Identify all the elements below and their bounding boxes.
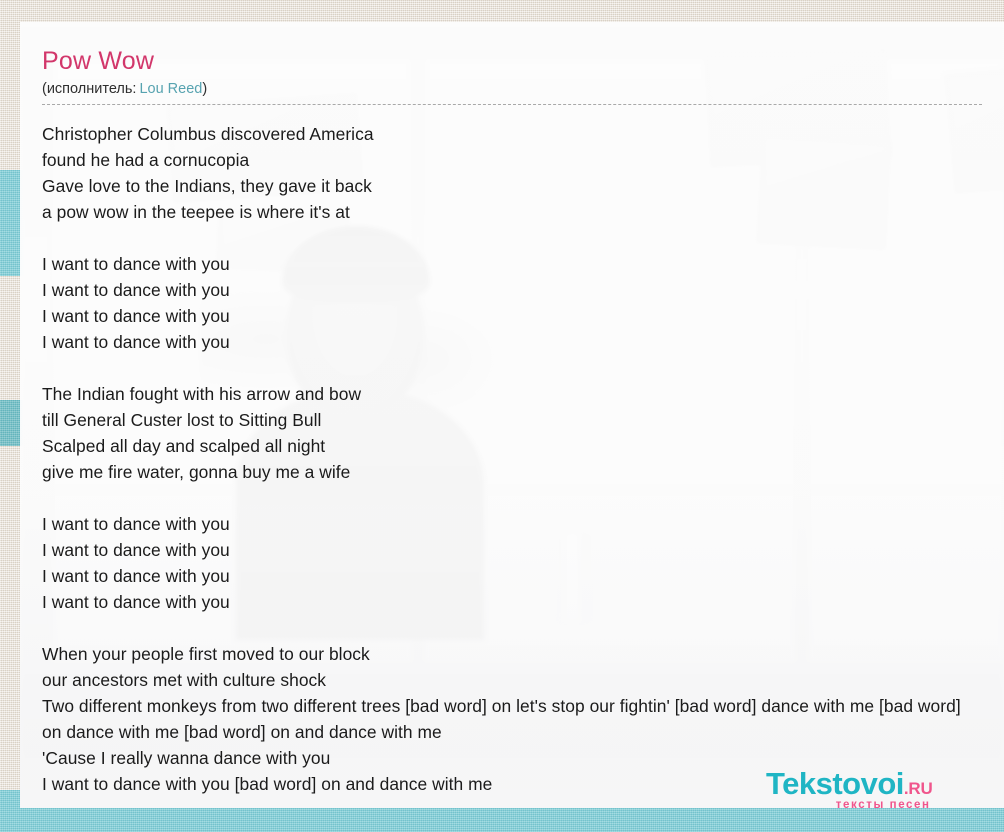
lyric-line: I want to dance with you	[42, 589, 982, 615]
lyric-line: Gave love to the Indians, they gave it b…	[42, 173, 982, 199]
artist-label: (исполнитель:	[42, 81, 136, 97]
site-logo-subtitle: тексты песен	[766, 800, 933, 812]
lyric-blank-line	[42, 225, 982, 251]
page-title: Pow Wow	[42, 46, 982, 76]
lyric-line: till General Custer lost to Sitting Bull	[42, 407, 982, 433]
lyric-line: I want to dance with you	[42, 277, 982, 303]
artist-line: (исполнитель:Lou Reed)	[42, 76, 982, 105]
lyrics-body: Christopher Columbus discovered Americaf…	[42, 105, 982, 797]
artist-link[interactable]: Lou Reed	[136, 81, 202, 97]
lyric-line: I want to dance with you	[42, 329, 982, 355]
lyric-line: Scalped all day and scalped all night	[42, 433, 982, 459]
lyric-line: give me fire water, gonna buy me a wife	[42, 459, 982, 485]
site-logo-tld: .RU	[904, 779, 933, 798]
lyric-line: I want to dance with you	[42, 537, 982, 563]
lyrics-card: Pow Wow (исполнитель:Lou Reed) Christoph…	[20, 22, 1004, 808]
lyric-line: our ancestors met with culture shock	[42, 667, 982, 693]
lyric-line: found he had a cornucopia	[42, 147, 982, 173]
lyric-line: I want to dance with you	[42, 303, 982, 329]
lyric-blank-line	[42, 615, 982, 641]
lyric-line: The Indian fought with his arrow and bow	[42, 381, 982, 407]
lyric-line: Christopher Columbus discovered America	[42, 121, 982, 147]
artist-paren-close: )	[202, 81, 207, 97]
lyric-line: I want to dance with you	[42, 563, 982, 589]
site-logo-name: Tekstovoi	[766, 766, 904, 801]
lyric-line: When your people first moved to our bloc…	[42, 641, 982, 667]
lyric-line: a pow wow in the teepee is where it's at	[42, 199, 982, 225]
lyric-line: Two different monkeys from two different…	[42, 693, 982, 745]
lyric-line: I want to dance with you	[42, 511, 982, 537]
lyric-blank-line	[42, 485, 982, 511]
lyric-blank-line	[42, 355, 982, 381]
site-logo-wordmark: Tekstovoi.RU	[766, 768, 933, 799]
site-logo[interactable]: Tekstovoi.RU тексты песен	[766, 768, 933, 812]
lyric-line: I want to dance with you	[42, 251, 982, 277]
